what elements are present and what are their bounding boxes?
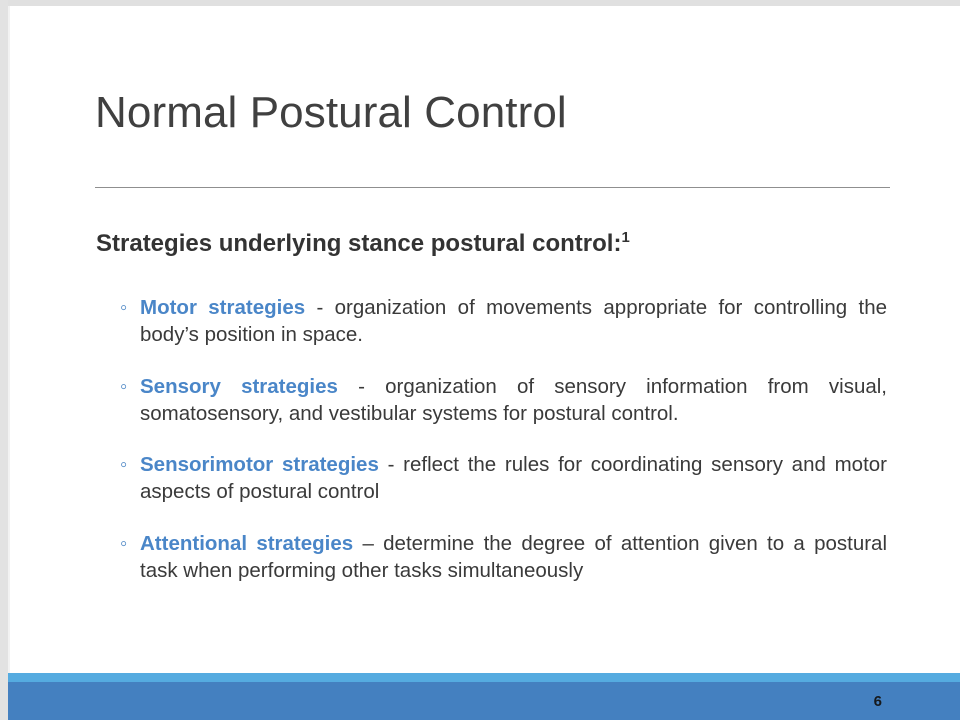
bullet-circle-icon: ◦ [120,530,127,557]
title-divider [95,187,890,188]
list-item-term: Attentional strategies [140,532,353,555]
list-item: ◦Sensorimotor strategies - reflect the r… [119,451,887,506]
bullet-circle-icon: ◦ [120,373,127,400]
list-item-separator: - [379,453,403,476]
leadin-text: Strategies underlying stance postural co… [96,230,621,257]
list-item-separator: - [305,296,335,319]
page-number: 6 [874,693,882,710]
slide-frame-top-edge [0,0,960,6]
list-item-separator: - [338,375,385,398]
bullet-list: ◦Motor strategies - organization of move… [119,294,887,584]
footer-band [8,682,960,720]
list-item: ◦Motor strategies - organization of move… [119,294,887,349]
list-item-separator: – [353,532,383,555]
list-item: ◦Sensory strategies - organization of se… [119,373,887,428]
list-item-term: Motor strategies [140,296,305,319]
slide-frame-left-edge [0,0,8,720]
list-item-term: Sensorimotor strategies [140,453,379,476]
list-item-term: Sensory strategies [140,375,338,398]
page-title: Normal Postural Control [95,88,895,137]
bullet-circle-icon: ◦ [120,451,127,478]
leadin-citation: 1 [621,230,629,246]
leadin-heading: Strategies underlying stance postural co… [96,230,896,259]
bullet-circle-icon: ◦ [120,294,127,321]
list-item: ◦Attentional strategies – determine the … [119,530,887,585]
slide-frame-left-inner-edge [8,6,10,720]
slide-canvas: Normal Postural Control Strategies under… [0,0,960,720]
footer-accent-band [8,673,960,682]
